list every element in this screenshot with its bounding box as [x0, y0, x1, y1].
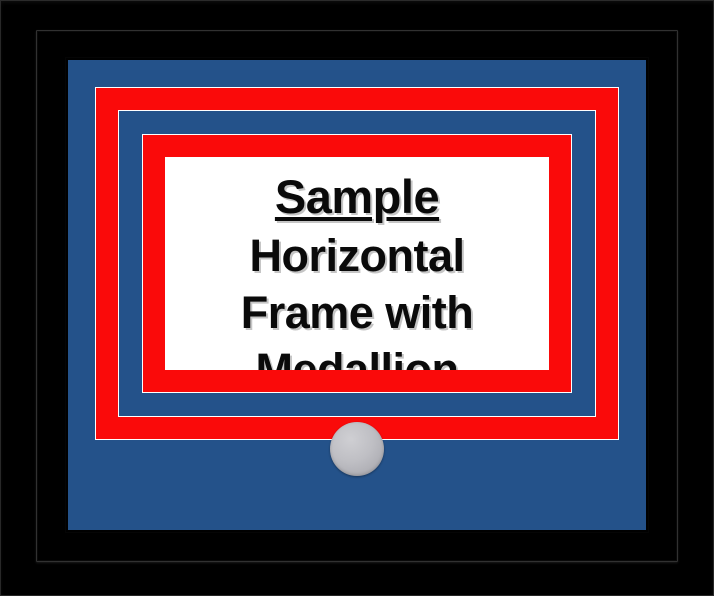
certificate-headline-line-4: Medallion	[165, 341, 549, 370]
mat-hairline-outer: Sample Horizontal Frame with Medallion (…	[95, 87, 619, 440]
certificate-opening: Sample Horizontal Frame with Medallion (…	[165, 157, 549, 370]
picture-frame-assembly: Sample Horizontal Frame with Medallion (…	[0, 0, 714, 596]
mat-red-outer: Sample Horizontal Frame with Medallion (…	[96, 88, 618, 439]
mat-blue-outer: Sample Horizontal Frame with Medallion (…	[68, 60, 646, 530]
mat-blue-inner: Sample Horizontal Frame with Medallion (…	[119, 111, 595, 416]
medallion-disc	[330, 422, 384, 476]
certificate-headline-line-3: Frame with	[165, 284, 549, 341]
mat-red-inner: Sample Horizontal Frame with Medallion (…	[143, 135, 571, 392]
certificate-text-block: Sample Horizontal Frame with Medallion (…	[165, 169, 549, 370]
certificate-headline-line-2: Horizontal	[165, 227, 549, 284]
mat-hairline-inner: Sample Horizontal Frame with Medallion (…	[142, 134, 572, 393]
certificate-title: Sample	[165, 169, 549, 225]
mat-hairline-middle: Sample Horizontal Frame with Medallion (…	[118, 110, 596, 417]
